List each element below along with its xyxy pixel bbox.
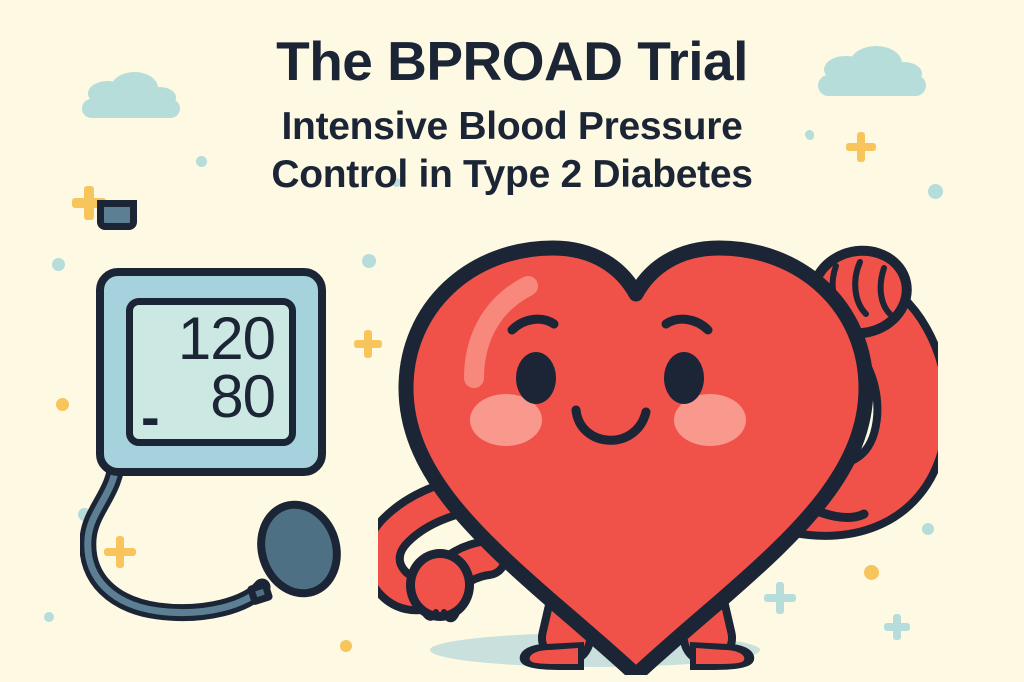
subtitle-line-2: Control in Type 2 Diabetes	[0, 151, 1024, 199]
heart-body	[406, 248, 866, 675]
blood-pressure-monitor: - 120 80	[96, 268, 326, 476]
reading-separator: -	[141, 389, 160, 445]
dot-center-upper-icon	[362, 254, 376, 268]
monitor-screen: - 120 80	[126, 298, 296, 446]
smiling-flexing-heart-mascot	[378, 230, 938, 675]
title-block: The BPROAD Trial Intensive Blood Pressur…	[0, 34, 1024, 198]
monitor-frame: - 120 80	[96, 268, 326, 476]
eye-right	[664, 352, 704, 404]
systolic-reading: 120	[178, 309, 275, 369]
monitor-neck	[97, 200, 137, 230]
eye-left	[516, 352, 556, 404]
dot-left-mid-icon	[52, 258, 65, 271]
subtitle-line-1: Intensive Blood Pressure	[0, 103, 1024, 151]
heart-left-hand	[406, 549, 474, 621]
dot-mid-bottom-icon	[44, 612, 54, 622]
poster-canvas: The BPROAD Trial Intensive Blood Pressur…	[0, 0, 1024, 682]
diastolic-reading: 80	[210, 367, 275, 427]
page-title: The BPROAD Trial	[0, 34, 1024, 89]
dot-left-yellow-icon	[56, 398, 69, 411]
